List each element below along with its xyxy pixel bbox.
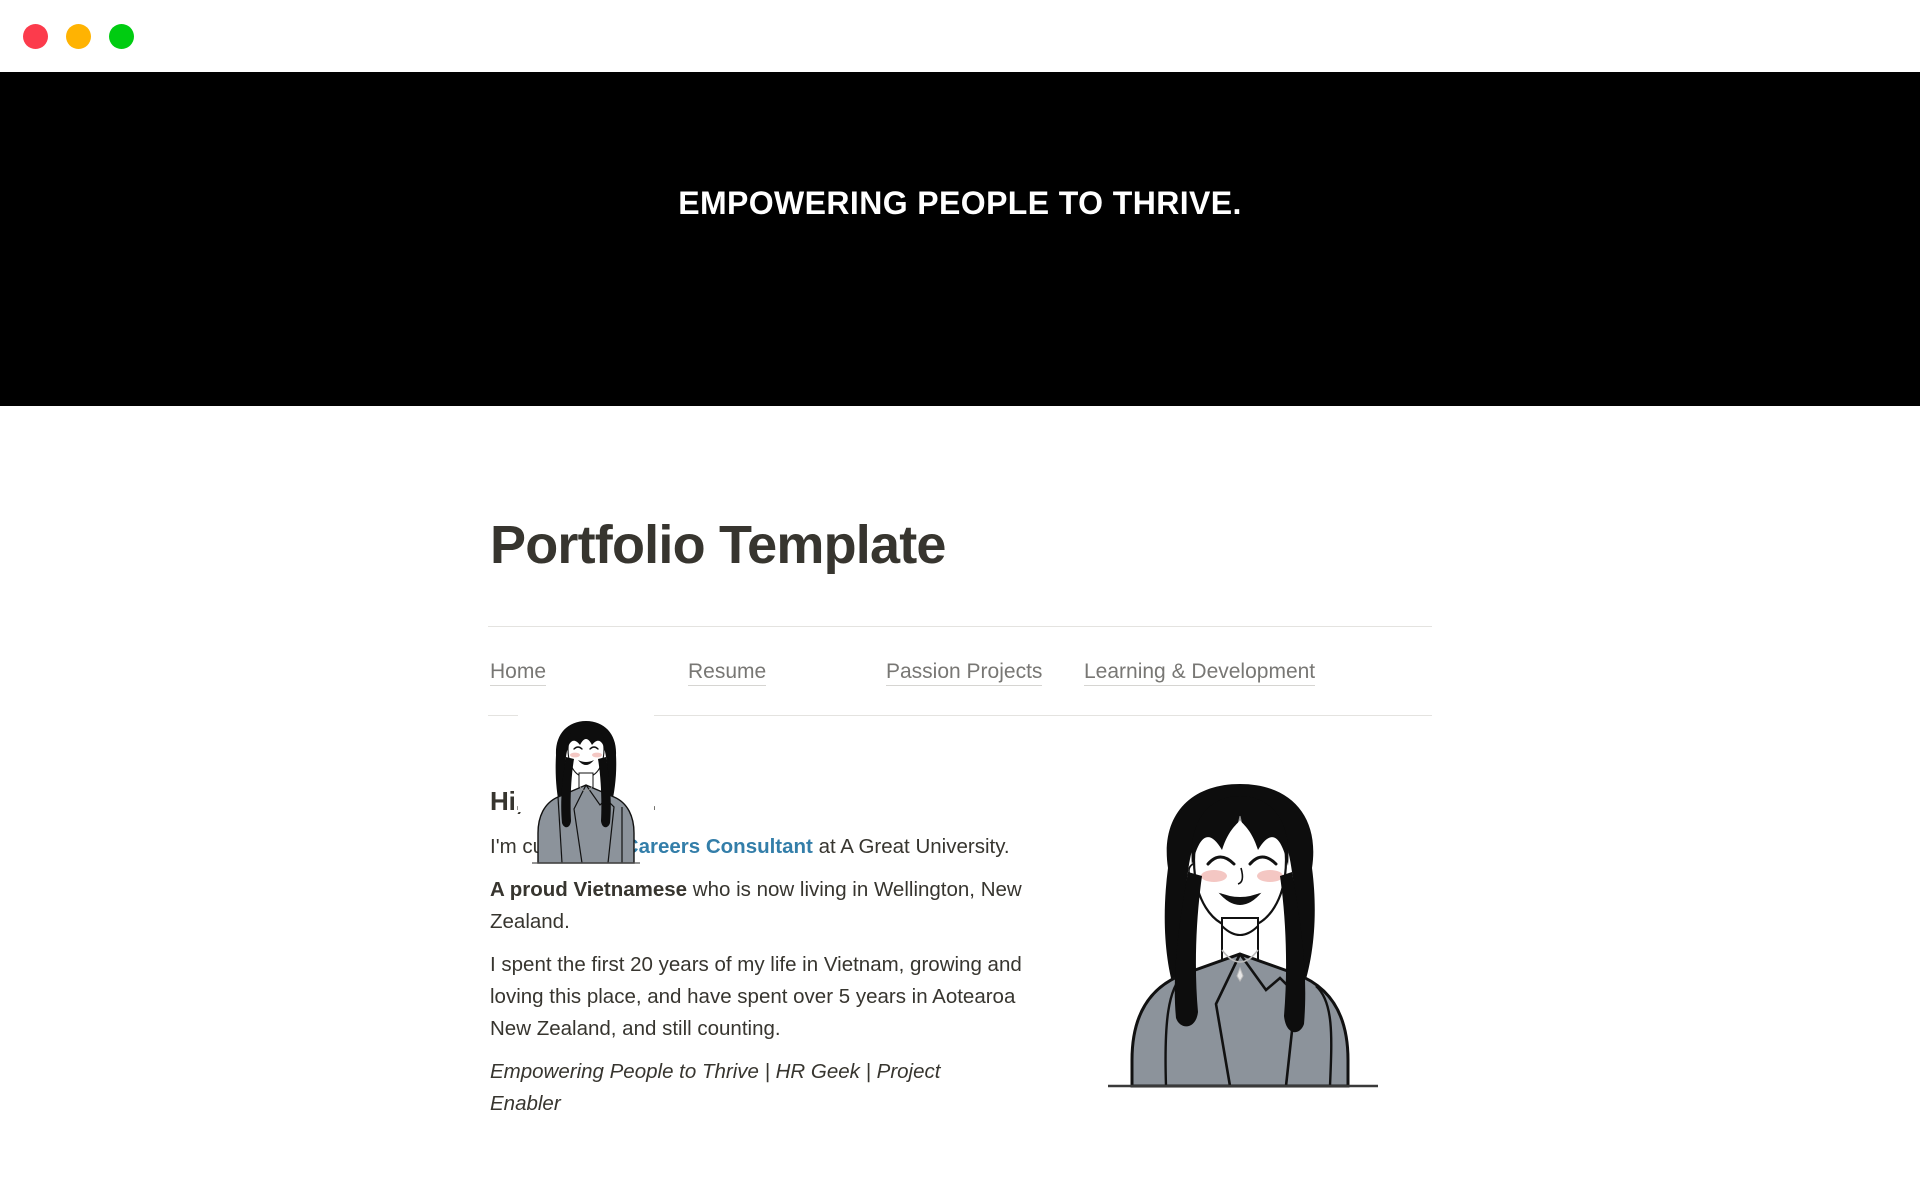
browser-title-bar [0,0,1920,72]
close-window-button[interactable] [23,24,48,49]
nav-slot-passion-projects: Passion Projects [886,659,1084,684]
maximize-window-button[interactable] [109,24,134,49]
nav-slot-learning-development: Learning & Development [1084,659,1315,684]
page-body: Portfolio Template Home Resume Passion P… [0,406,1920,1120]
intro-tagline: Empowering People to Thrive | HR Geek | … [490,1056,990,1120]
banner-tagline: EMPOWERING PEOPLE TO THRIVE. [0,72,1920,222]
minimize-window-button[interactable] [66,24,91,49]
intro-origin-strong: A proud Vietnamese [490,878,687,901]
nav-link-learning-development[interactable]: Learning & Development [1084,660,1315,686]
nav-link-passion-projects[interactable]: Passion Projects [886,660,1042,686]
nav-slot-home: Home [490,659,688,684]
hero-banner: EMPOWERING PEOPLE TO THRIVE. [0,72,1920,406]
hero-portrait-illustration [1090,768,1390,1098]
primary-nav: Home Resume Passion Projects Learning & … [488,627,1432,715]
intro-role-suffix: at A Great University. [813,835,1010,858]
nav-slot-resume: Resume [688,659,886,684]
nav-link-resume[interactable]: Resume [688,660,766,686]
intro-paragraph-story: I spent the first 20 years of my life in… [490,949,1038,1045]
page-avatar-illustration [518,711,654,871]
nav-link-home[interactable]: Home [490,660,546,686]
illustration-column [1038,786,1432,1120]
intro-paragraph-origin: A proud Vietnamese who is now living in … [490,874,1022,938]
page-avatar [518,711,654,871]
page-title: Portfolio Template [488,406,1432,575]
